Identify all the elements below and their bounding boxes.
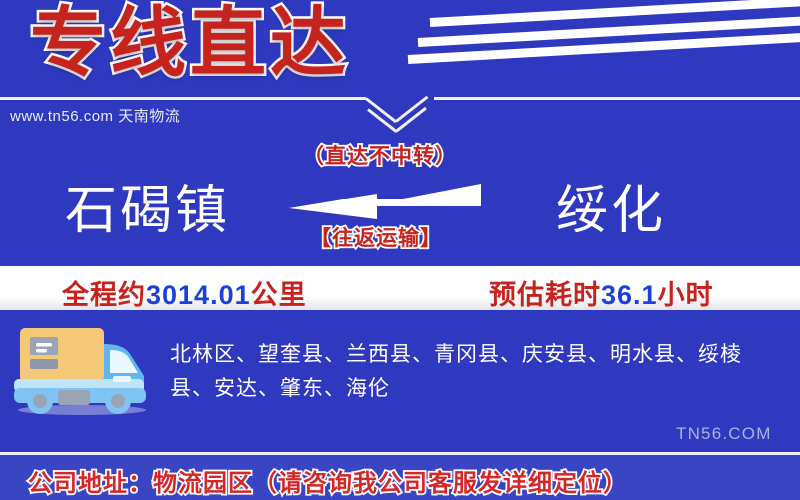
delivery-truck-icon [6,320,156,416]
diagonal-stripes-icon [408,30,800,64]
duration-value: 36.1 [601,280,658,310]
origin-city: 石碣镇 [65,168,230,243]
header-divider-left [0,97,366,100]
bidirectional-arrow-icon [285,178,485,220]
covered-cities-list: 北林区、望奎县、兰西县、青冈县、庆安县、明水县、绥棱县、安达、肇东、海伦 [170,338,780,406]
distance-label: 全程约 [62,280,146,310]
watermark-label: TN56.COM [676,424,772,444]
duration-unit: 小时 [658,280,714,310]
distance-stat: 全程约3014.01公里 [62,273,307,312]
distance-unit: 公里 [251,280,307,310]
diagonal-stripes-icon [418,13,800,47]
page-title: 专线直达 [30,0,350,89]
diagonal-stripes-icon [430,0,800,27]
round-trip-badge: 【往返运输】 [310,222,442,252]
company-address-label: 公司地址：物流园区（请咨询我公司客服发详细定位） [28,463,628,498]
header-divider-right [434,97,800,100]
logistics-banner: 专线直达 www.tn56.com 天南物流 石碣镇 绥化 （直达不中转） 【往… [0,0,800,500]
duration-label: 预估耗时 [489,280,601,310]
duration-stat: 预估耗时36.1小时 [489,273,714,312]
distance-value: 3014.01 [146,280,251,310]
site-url-label: www.tn56.com 天南物流 [10,105,180,126]
direct-route-badge: （直达不中转） [303,140,457,170]
destination-city: 绥化 [556,168,666,243]
